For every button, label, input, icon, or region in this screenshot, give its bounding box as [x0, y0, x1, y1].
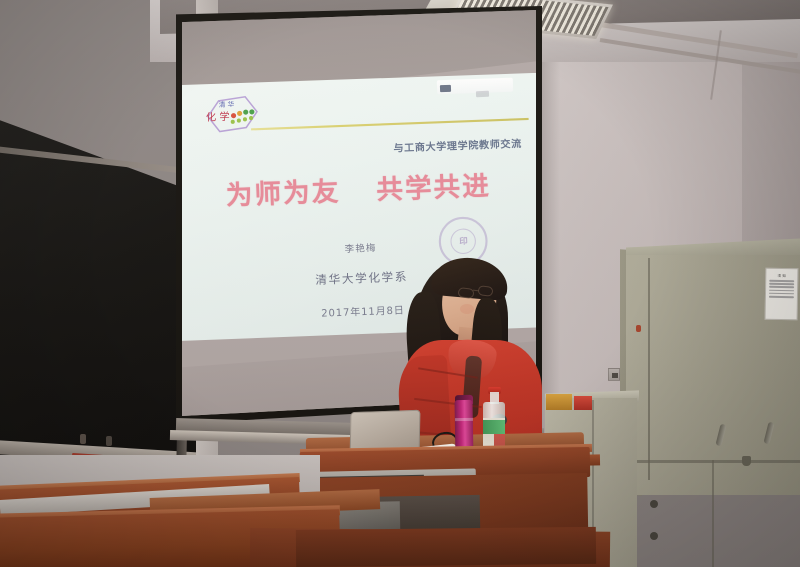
- slide-title: 为师为友共学共进: [182, 163, 536, 215]
- cabinet-vent-hole: [650, 500, 658, 508]
- svg-text:清 华: 清 华: [218, 99, 234, 109]
- cabinet-vent-hole: [650, 532, 658, 540]
- notice-line: [769, 286, 794, 288]
- yellow-box: [546, 394, 572, 410]
- wall-outlet-icon: [608, 368, 620, 381]
- notice-line: [769, 280, 794, 282]
- blackboard-clip: [80, 434, 86, 444]
- cabinet-lock-icon[interactable]: [742, 456, 751, 466]
- cabinet-notice-paper: 须 知: [765, 268, 799, 321]
- notice-line: [769, 293, 794, 295]
- glasses-icon: [457, 287, 474, 299]
- red-box: [574, 396, 592, 410]
- blackboard-clip: [106, 436, 112, 446]
- notice-line: [769, 289, 794, 291]
- slide-title-part2: 共学共进: [376, 170, 492, 205]
- cabinet-lower-seam: [712, 460, 714, 567]
- blackboard: [0, 118, 204, 470]
- thermos-band: [455, 418, 473, 421]
- podium-front-shelf: [296, 527, 596, 567]
- glasses-icon: [477, 285, 493, 297]
- notice-title: 须 知: [769, 273, 794, 278]
- slide-divider-rule: [251, 118, 529, 131]
- cabinet-door-seam: [648, 258, 650, 480]
- notice-line: [769, 296, 794, 298]
- screen-glare-chip-secondary: [476, 91, 489, 97]
- slide-header-line: 与工商大学理学院教师交流: [182, 135, 522, 163]
- svg-text:化 学: 化 学: [206, 110, 230, 124]
- cheek: [460, 304, 474, 314]
- bottle-label-green: [483, 420, 505, 434]
- photo-scene: 清 华 化 学: [0, 0, 800, 567]
- cabinet-marker-dot: [636, 325, 641, 332]
- slide-title-part1: 为师为友: [225, 176, 341, 211]
- seal-text: 印: [459, 236, 468, 248]
- notice-line: [769, 283, 794, 285]
- screen-glare-chip: [440, 85, 451, 92]
